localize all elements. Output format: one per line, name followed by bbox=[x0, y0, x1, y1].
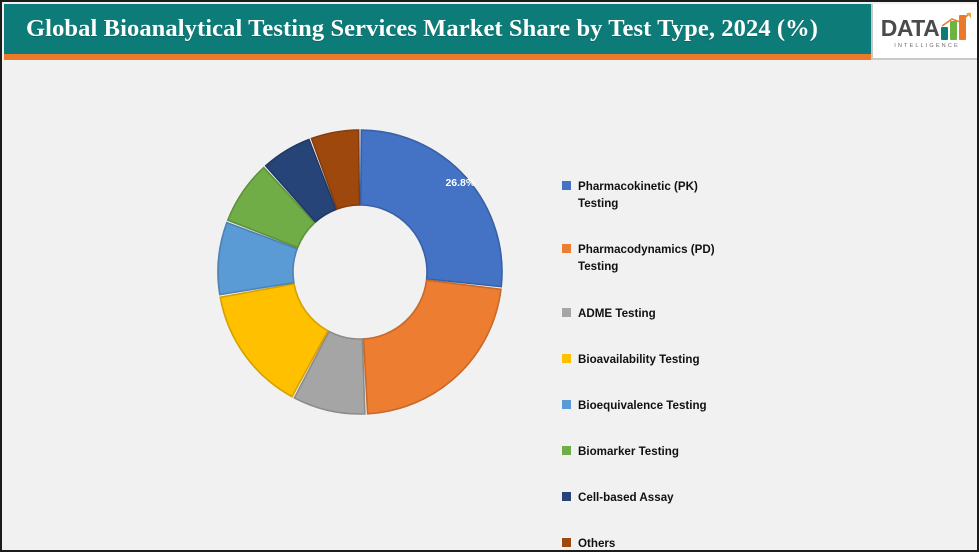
legend-item-bioavailability-testing[interactable]: Bioavailability Testing bbox=[562, 351, 892, 368]
legend-item-bioequivalence-testing[interactable]: Bioequivalence Testing bbox=[562, 397, 892, 414]
legend-swatch-icon bbox=[562, 308, 571, 317]
legend-label: Bioavailability Testing bbox=[578, 351, 700, 368]
logo-bars-icon bbox=[941, 14, 971, 40]
chart-canvas: Global Bioanalytical Testing Services Ma… bbox=[0, 0, 979, 552]
donut-slice[interactable] bbox=[361, 130, 502, 287]
chart-header: Global Bioanalytical Testing Services Ma… bbox=[4, 4, 979, 60]
chart-legend: Pharmacokinetic (PK) Testing Pharmacodyn… bbox=[562, 178, 892, 552]
logo-growth-arrow-icon bbox=[941, 12, 973, 28]
legend-label: Pharmacokinetic (PK) Testing bbox=[578, 178, 738, 212]
legend-item-others[interactable]: Others bbox=[562, 535, 892, 552]
logo-mark: DATA bbox=[881, 14, 971, 40]
legend-swatch-icon bbox=[562, 244, 571, 253]
legend-item-pharmacokinetic-pk-testing[interactable]: Pharmacokinetic (PK) Testing bbox=[562, 178, 892, 212]
slice-data-label: 26.8% bbox=[445, 177, 475, 189]
plot-area: 26.8% Pharmacokinetic (PK) Testing Pharm… bbox=[4, 60, 979, 552]
brand-logo: DATA INTELLIGENCE bbox=[871, 4, 979, 60]
legend-swatch-icon bbox=[562, 354, 571, 363]
legend-label: Cell-based Assay bbox=[578, 489, 674, 506]
donut-slice[interactable] bbox=[364, 280, 501, 414]
donut-chart: 26.8% bbox=[210, 122, 510, 422]
legend-swatch-icon bbox=[562, 446, 571, 455]
legend-label: Bioequivalence Testing bbox=[578, 397, 707, 414]
legend-item-adme-testing[interactable]: ADME Testing bbox=[562, 305, 892, 322]
legend-swatch-icon bbox=[562, 538, 571, 547]
legend-label: Biomarker Testing bbox=[578, 443, 679, 460]
legend-swatch-icon bbox=[562, 181, 571, 190]
legend-item-cell-based-assay[interactable]: Cell-based Assay bbox=[562, 489, 892, 506]
page-title: Global Bioanalytical Testing Services Ma… bbox=[4, 15, 818, 43]
legend-label: ADME Testing bbox=[578, 305, 656, 322]
logo-wordmark: DATA bbox=[881, 17, 939, 40]
header-title-bar: Global Bioanalytical Testing Services Ma… bbox=[4, 4, 871, 60]
legend-swatch-icon bbox=[562, 400, 571, 409]
donut-chart-svg: 26.8% bbox=[210, 122, 510, 422]
legend-item-pharmacodynamics-pd-testing[interactable]: Pharmacodynamics (PD) Testing bbox=[562, 241, 892, 275]
legend-item-biomarker-testing[interactable]: Biomarker Testing bbox=[562, 443, 892, 460]
legend-label: Pharmacodynamics (PD) Testing bbox=[578, 241, 738, 275]
legend-label: Others bbox=[578, 535, 615, 552]
logo-subtitle: INTELLIGENCE bbox=[892, 43, 960, 49]
legend-swatch-icon bbox=[562, 492, 571, 501]
